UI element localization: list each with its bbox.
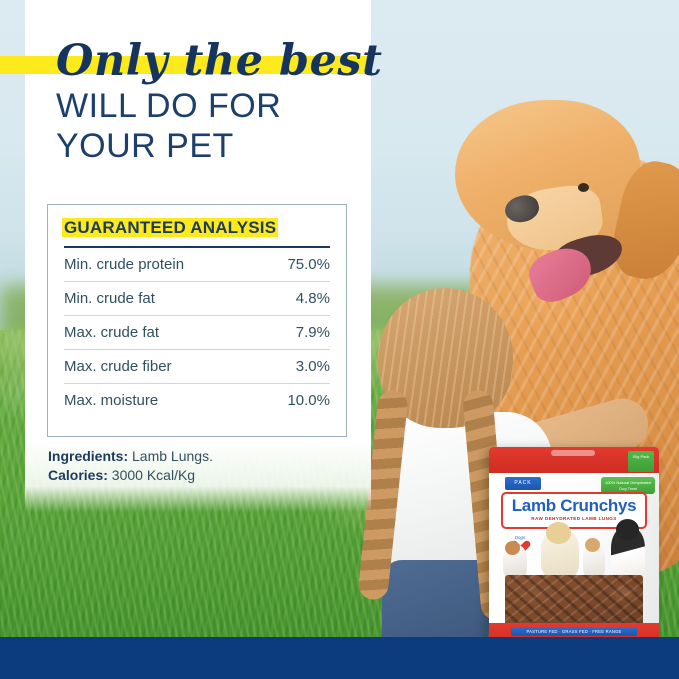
- dog-illustration: [611, 527, 645, 579]
- nutrient-label: Max. crude fiber: [64, 358, 172, 375]
- nutrient-value: 7.9%: [296, 324, 330, 341]
- claims-badge-bar: PASTURE FED · GRASS FED · FREE RANGE: [511, 627, 637, 636]
- dog-illustration: [541, 529, 579, 579]
- table-row: Max. moisture 10.0%: [64, 384, 330, 417]
- guaranteed-analysis-title-wrap: GUARANTEED ANALYSIS: [64, 219, 330, 237]
- table-row: Max. crude fat 7.9%: [64, 316, 330, 350]
- table-row: Min. crude protein 75.0%: [64, 248, 330, 282]
- dog-eye: [578, 183, 589, 192]
- nutrient-label: Max. crude fat: [64, 324, 159, 341]
- calories-line: Calories: 3000 Kcal/Kg: [48, 466, 368, 485]
- headline-script-row: Only the best: [25, 36, 385, 86]
- headline: Only the best WILL DO FOR YOUR PET: [25, 36, 385, 166]
- marketing-image: Only the best WILL DO FOR YOUR PET GUARA…: [0, 0, 679, 679]
- nutrient-label: Min. crude protein: [64, 256, 184, 273]
- nutrient-value: 3.0%: [296, 358, 330, 375]
- nutrient-label: Max. moisture: [64, 392, 158, 409]
- dog-illustration: [503, 545, 527, 579]
- corner-tag: 50g Pack: [628, 451, 654, 472]
- product-package: 50g Pack PACK 100% Natural Dehydrated Do…: [489, 447, 659, 659]
- ingredients-block: Ingredients: Lamb Lungs. Calories: 3000 …: [48, 447, 368, 485]
- headline-script-text: Only the best: [56, 36, 385, 86]
- nutrient-value: 10.0%: [287, 392, 330, 409]
- calories-label: Calories:: [48, 467, 108, 483]
- bag-seal-notch: [551, 450, 595, 456]
- nutrient-value: 75.0%: [287, 256, 330, 273]
- nutrient-value: 4.8%: [296, 290, 330, 307]
- headline-line-3: YOUR PET: [56, 126, 385, 166]
- pack-tag: PACK: [505, 477, 541, 490]
- table-row: Max. crude fiber 3.0%: [64, 350, 330, 384]
- ingredients-line: Ingredients: Lamb Lungs.: [48, 447, 368, 466]
- headline-line-2: WILL DO FOR: [56, 86, 385, 126]
- brand-name: Lamb Crunchys: [503, 497, 645, 515]
- table-row: Min. crude fat 4.8%: [64, 282, 330, 316]
- guaranteed-analysis-card: GUARANTEED ANALYSIS Min. crude protein 7…: [47, 204, 347, 437]
- calories-value: 3000 Kcal/Kg: [108, 467, 195, 483]
- nutrient-label: Min. crude fat: [64, 290, 155, 307]
- guaranteed-analysis-title: GUARANTEED ANALYSIS: [64, 218, 276, 237]
- ingredients-value: Lamb Lungs.: [128, 448, 213, 464]
- ingredients-label: Ingredients:: [48, 448, 128, 464]
- dog-head: [455, 100, 640, 250]
- dog-illustrations: [499, 527, 649, 579]
- bottom-brand-band: [0, 637, 679, 679]
- dog-illustration: [583, 543, 605, 579]
